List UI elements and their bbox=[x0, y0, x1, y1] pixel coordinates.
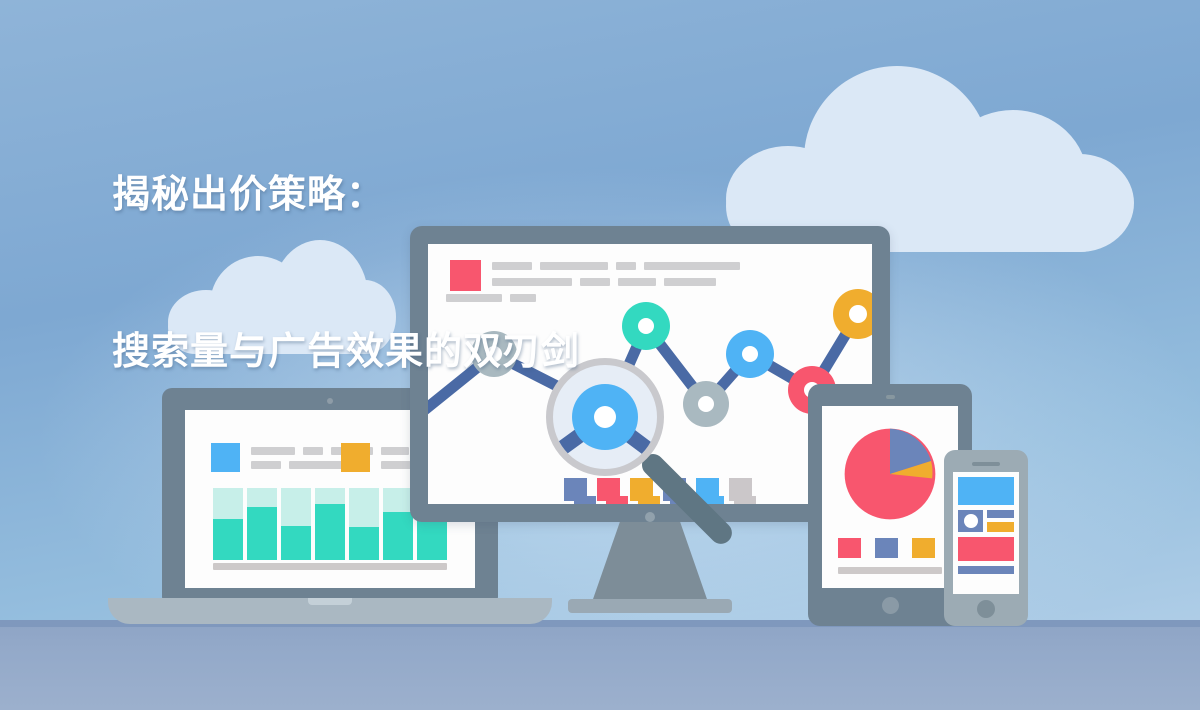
phone-banner-block bbox=[958, 537, 1014, 561]
phone-text-bar bbox=[987, 510, 1014, 518]
cloud-large-right bbox=[726, 48, 1146, 253]
phone-hero-block bbox=[958, 477, 1014, 505]
phone-screen bbox=[953, 472, 1019, 594]
tablet-home-button[interactable] bbox=[882, 597, 899, 614]
tablet-legend-swatch-1 bbox=[838, 538, 861, 558]
tablet-pie-chart bbox=[836, 420, 944, 528]
tablet-legend-swatch-3 bbox=[912, 538, 935, 558]
tablet-footer-bar bbox=[838, 567, 942, 574]
page-title: 揭秘出价策略： 搜索量与广告效果的双刃剑 bbox=[112, 64, 580, 484]
phone-accent-bar bbox=[987, 522, 1014, 532]
monitor-base bbox=[568, 599, 732, 613]
swatch-pink bbox=[597, 478, 620, 501]
swatch-gray bbox=[729, 478, 752, 501]
phone-home-button[interactable] bbox=[977, 600, 995, 618]
phone-device bbox=[944, 450, 1028, 626]
tablet-speaker-icon bbox=[886, 395, 895, 399]
ground-surface bbox=[0, 627, 1200, 710]
tablet-screen bbox=[822, 406, 958, 588]
monitor-power-indicator-icon bbox=[645, 512, 655, 522]
phone-speaker-icon bbox=[972, 462, 1000, 466]
poster-canvas: 揭秘出价策略： 搜索量与广告效果的双刃剑 bbox=[0, 0, 1200, 710]
monitor-stand bbox=[592, 522, 708, 602]
phone-avatar-tile bbox=[958, 510, 983, 532]
phone-footer-bar bbox=[958, 566, 1014, 574]
tablet-legend-swatch-2 bbox=[875, 538, 898, 558]
title-line-2: 搜索量与广告效果的双刃剑 bbox=[112, 326, 580, 378]
phone-avatar-icon bbox=[964, 514, 978, 528]
laptop-base-notch bbox=[308, 598, 352, 605]
swatch-orange bbox=[630, 478, 653, 501]
laptop-footer-bar bbox=[213, 563, 447, 570]
title-line-1: 揭秘出价策略： bbox=[112, 169, 580, 221]
